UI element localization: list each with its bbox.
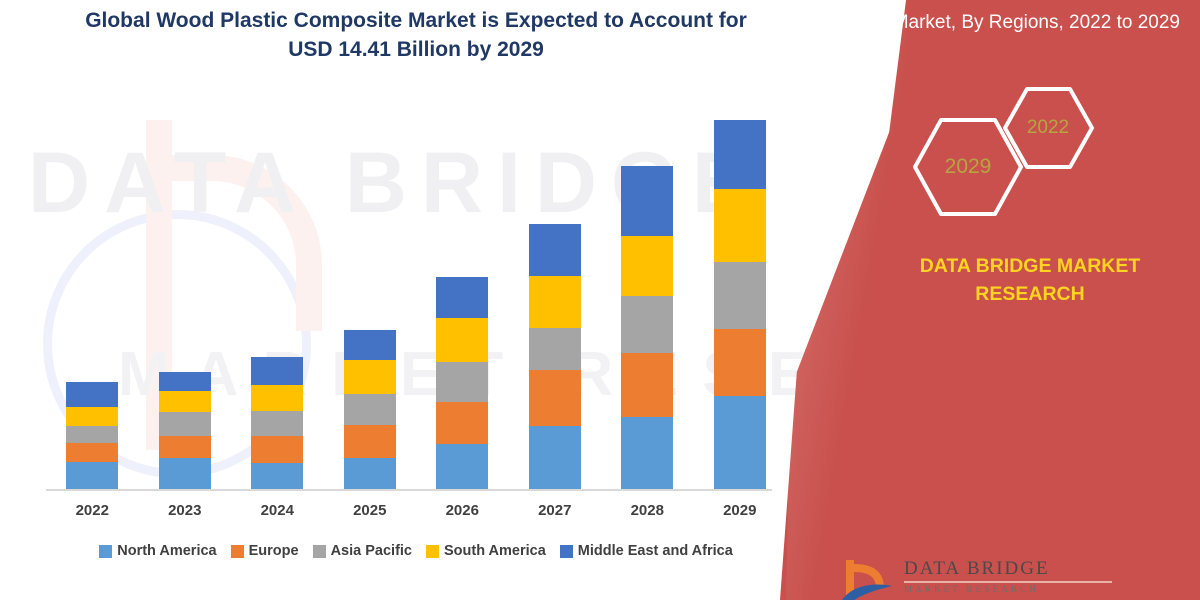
bar-column-2027 [511,224,599,490]
bar-segment [621,353,673,417]
bar-segment [159,436,211,458]
x-axis-label-2025: 2025 [326,498,414,524]
stacked-bar [251,357,303,489]
stacked-bar [159,372,211,489]
bar-segment [344,425,396,458]
legend-label: North America [117,543,216,559]
bar-column-2025 [326,330,414,489]
legend-swatch-icon [560,545,573,558]
legend-item[interactable]: Europe [231,543,299,559]
legend-label: Europe [249,543,299,559]
legend-label: South America [444,543,546,559]
bar-segment [436,318,488,362]
x-axis-label-2027: 2027 [511,498,599,524]
legend-item[interactable]: Middle East and Africa [560,543,733,559]
right-red-panel: Market, By Regions, 2022 to 2029 2029 20… [780,0,1200,600]
stacked-bar [344,330,396,489]
panel-title: Market, By Regions, 2022 to 2029 [850,8,1180,37]
bar-segment [714,329,766,395]
bar-segment [159,412,211,435]
logo-subtitle: MARKET RESEARCH [904,584,1174,594]
bar-segment [159,372,211,392]
bar-segment [621,296,673,353]
stacked-bar [66,382,118,489]
bar-segment [621,166,673,235]
bar-segment [251,436,303,463]
bar-segment [529,426,581,489]
legend-item[interactable]: North America [99,543,216,559]
bar-segment [251,385,303,411]
x-axis-label-2022: 2022 [48,498,136,524]
bar-segment [621,417,673,489]
brand-line-1: DATA BRIDGE MARKET [880,252,1180,280]
chart-legend: North AmericaEuropeAsia PacificSouth Ame… [46,538,786,564]
bar-column-2023 [141,372,229,489]
bar-segment [714,189,766,262]
bar-segment [159,391,211,412]
logo-name: DATA BRIDGE [904,558,1174,580]
x-axis-label-2024: 2024 [233,498,321,524]
stacked-bar [621,166,673,489]
hexagon-2029-label: 2029 [945,155,992,179]
hexagon-2022: 2022 [1000,85,1096,171]
x-axis-label-2026: 2026 [418,498,506,524]
bar-segment [159,458,211,489]
logo-mark-icon [838,556,896,600]
bar-segment [529,328,581,370]
legend-swatch-icon [231,545,244,558]
bar-segment [529,370,581,426]
bar-segment [344,394,396,425]
bar-segment [436,402,488,444]
x-axis-line [46,489,772,491]
stacked-bar [714,120,766,489]
bar-segment [344,458,396,489]
bar-segment [714,262,766,329]
hexagon-2022-label: 2022 [1027,117,1069,139]
bar-segment [251,411,303,436]
brand-line-2: RESEARCH [880,280,1180,308]
bar-segment [344,360,396,394]
bar-segment [714,120,766,189]
bar-segment [529,276,581,328]
bar-segment [66,443,118,462]
bar-column-2022 [48,382,136,489]
x-axis-label-2028: 2028 [603,498,691,524]
bar-column-2026 [418,277,506,489]
hexagon-group: 2029 2022 [910,85,1190,220]
bar-segment [66,462,118,489]
x-axis-labels: 20222023202420252026202720282029 [46,498,786,524]
legend-swatch-icon [426,545,439,558]
bar-segment [621,236,673,297]
logo-text: DATA BRIDGE MARKET RESEARCH [904,558,1174,594]
bar-segment [436,277,488,318]
stacked-bar [529,224,581,490]
legend-label: Middle East and Africa [578,543,733,559]
x-axis-label-2029: 2029 [696,498,784,524]
bar-segment [344,330,396,360]
bar-segment [436,362,488,402]
bar-column-2029 [696,120,784,489]
bar-segment [251,463,303,489]
bar-segment [66,426,118,443]
legend-label: Asia Pacific [331,543,412,559]
chart-title: Global Wood Plastic Composite Market is … [66,6,766,64]
brand-text: DATA BRIDGE MARKET RESEARCH [880,252,1180,308]
legend-item[interactable]: Asia Pacific [313,543,412,559]
legend-swatch-icon [99,545,112,558]
legend-swatch-icon [313,545,326,558]
infographic-canvas: DATA BRIDGE MARKET RESEARCH Global Wood … [0,0,1200,600]
company-logo: DATA BRIDGE MARKET RESEARCH [838,556,1178,600]
bar-segment [714,396,766,489]
bar-segment [436,444,488,489]
legend-item[interactable]: South America [426,543,546,559]
bar-segment [66,382,118,407]
bar-column-2028 [603,166,691,489]
logo-divider [904,581,1112,583]
bar-segment [66,407,118,426]
x-axis-label-2023: 2023 [141,498,229,524]
stacked-bar [436,277,488,489]
stacked-bar-chart [46,120,786,489]
bar-segment [529,224,581,276]
bar-segment [251,357,303,384]
bar-column-2024 [233,357,321,489]
